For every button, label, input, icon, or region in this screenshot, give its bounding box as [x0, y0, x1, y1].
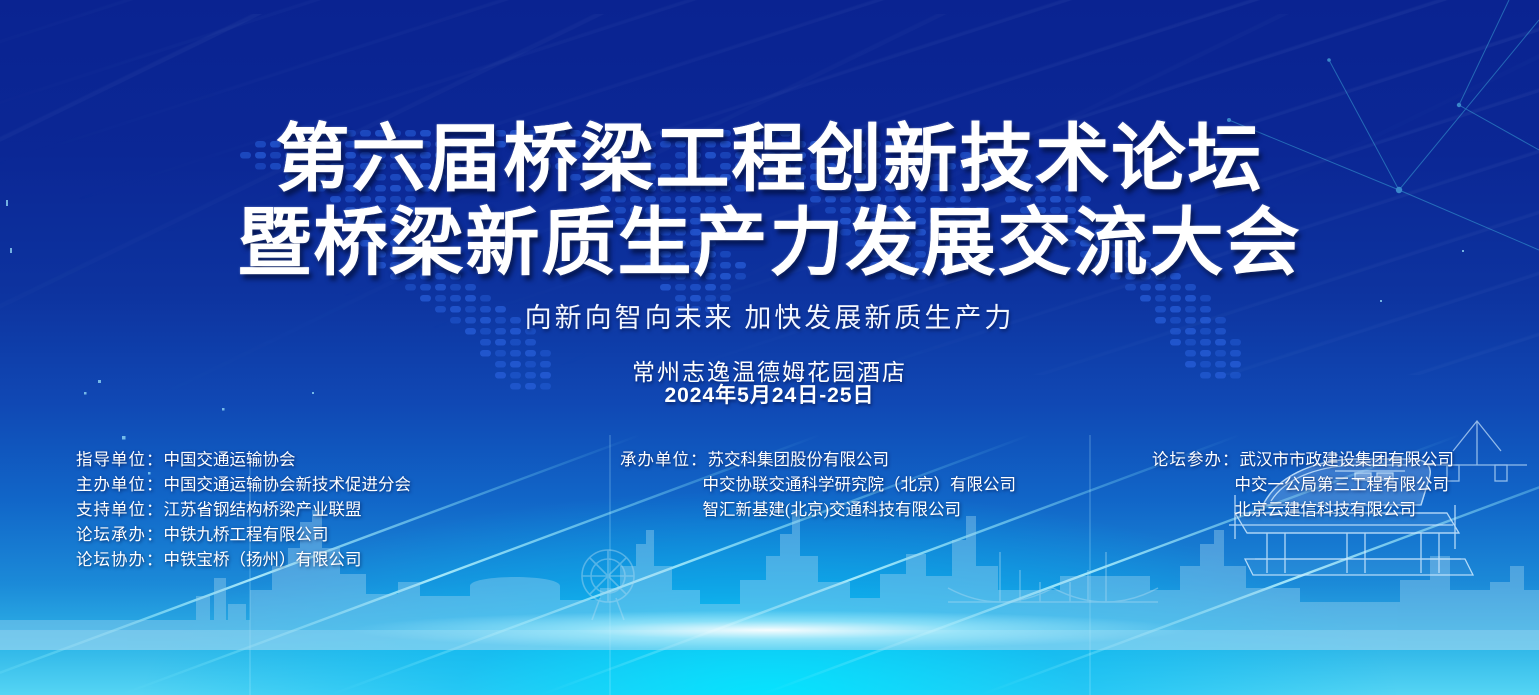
organizer-indent	[1152, 497, 1235, 522]
organizers-left-column: 指导单位：中国交通运输协会 主办单位：中国交通运输协会新技术促进分会 支持单位：…	[76, 447, 411, 572]
organizer-label: 论坛协办：	[76, 550, 164, 569]
organizer-value: 北京云建信科技有限公司	[1235, 500, 1417, 519]
organizer-row: 论坛协办：中铁宝桥（扬州）有限公司	[76, 547, 411, 572]
organizer-value: 中国交通运输协会	[164, 450, 296, 469]
organizer-value: 江苏省钢结构桥梁产业联盟	[164, 500, 362, 519]
organizer-value: 中国交通运输协会新技术促进分会	[164, 475, 412, 494]
organizer-value: 苏交科集团股份有限公司	[708, 450, 890, 469]
organizer-row: 中交协联交通科学研究院（北京）有限公司	[620, 472, 1016, 497]
organizer-row: 指导单位：中国交通运输协会	[76, 447, 411, 472]
organizer-row: 智汇新基建(北京)交通科技有限公司	[620, 497, 1016, 522]
organizer-label: 指导单位：	[76, 450, 164, 469]
title-line-2: 暨桥梁新质生产力发展交流大会	[0, 202, 1539, 286]
date-text: 2024年5月24日-25日	[0, 379, 1539, 409]
organizer-label: 论坛承办：	[76, 525, 164, 544]
organizer-indent	[1152, 472, 1235, 497]
organizer-value: 中交一公局第三工程有限公司	[1235, 475, 1450, 494]
title-line-1: 第六届桥梁工程创新技术论坛	[0, 118, 1539, 202]
conference-banner: 第六届桥梁工程创新技术论坛 暨桥梁新质生产力发展交流大会 向新向智向未来 加快发…	[0, 0, 1539, 695]
banner-subtitle: 向新向智向未来 加快发展新质生产力	[0, 296, 1539, 335]
organizer-value: 武汉市市政建设集团有限公司	[1240, 450, 1455, 469]
organizers-middle-column: 承办单位：苏交科集团股份有限公司 中交协联交通科学研究院（北京）有限公司 智汇新…	[620, 447, 1016, 522]
organizer-label: 主办单位：	[76, 475, 164, 494]
organizer-row: 承办单位：苏交科集团股份有限公司	[620, 447, 1016, 472]
organizer-row: 北京云建信科技有限公司	[1152, 497, 1454, 522]
organizer-value: 中铁九桥工程有限公司	[164, 525, 329, 544]
organizer-row: 主办单位：中国交通运输协会新技术促进分会	[76, 472, 411, 497]
organizers-right-column: 论坛参办：武汉市市政建设集团有限公司 中交一公局第三工程有限公司 北京云建信科技…	[1152, 447, 1454, 522]
organizer-row: 支持单位：江苏省钢结构桥梁产业联盟	[76, 497, 411, 522]
organizer-row: 中交一公局第三工程有限公司	[1152, 472, 1454, 497]
sparkle-particles-decor	[0, 0, 1539, 695]
organizer-indent	[620, 472, 703, 497]
organizer-indent	[620, 497, 703, 522]
banner-title: 第六届桥梁工程创新技术论坛 暨桥梁新质生产力发展交流大会	[0, 118, 1539, 286]
organizer-value: 智汇新基建(北京)交通科技有限公司	[703, 500, 962, 519]
organizer-label: 承办单位：	[620, 450, 708, 469]
organizer-value: 中交协联交通科学研究院（北京）有限公司	[703, 475, 1017, 494]
organizer-row: 论坛参办：武汉市市政建设集团有限公司	[1152, 447, 1454, 472]
organizer-row: 论坛承办：中铁九桥工程有限公司	[76, 522, 411, 547]
organizer-value: 中铁宝桥（扬州）有限公司	[164, 550, 362, 569]
horizon-glow-decor	[0, 595, 1539, 665]
organizer-label: 支持单位：	[76, 500, 164, 519]
organizer-label: 论坛参办：	[1152, 450, 1240, 469]
